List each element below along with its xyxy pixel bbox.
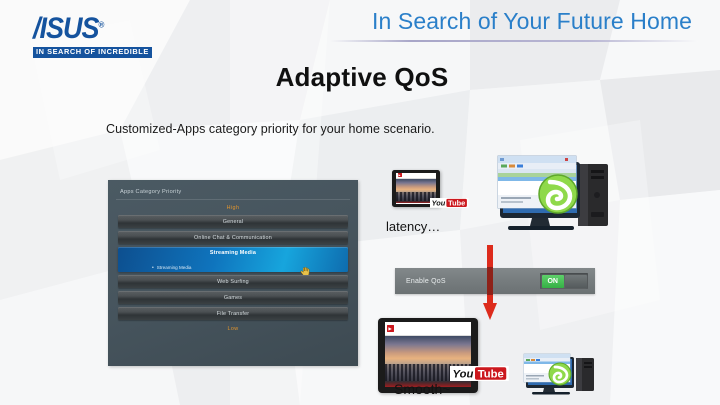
latency-label: latency… xyxy=(386,219,440,234)
asus-logo: /ISUS® IN SEARCH OF INCREDIBLE xyxy=(33,10,153,46)
youtube-logo-top: You Tube xyxy=(430,198,469,208)
apps-category-priority-panel: Apps Category Priority High General Onli… xyxy=(108,180,358,366)
youtube-favicon-icon: ▶ xyxy=(398,173,402,177)
smooth-label: Smooth~ xyxy=(394,381,450,397)
category-row-streaming-media[interactable]: Streaming Media Streaming Media xyxy=(118,247,348,272)
browser-toolbar: ▶ xyxy=(385,322,471,336)
asus-wordmark: /ISUS® xyxy=(33,10,153,43)
slide-root: /ISUS® IN SEARCH OF INCREDIBLE In Search… xyxy=(0,0,720,405)
enable-qos-label: Enable QoS xyxy=(406,278,446,285)
priority-low-label: Low xyxy=(116,323,350,336)
category-label: General xyxy=(223,219,244,225)
category-row-general[interactable]: General xyxy=(118,215,348,228)
header-divider xyxy=(330,40,698,42)
asus-tagline: IN SEARCH OF INCREDIBLE xyxy=(33,47,152,58)
category-label: Online Chat & Communication xyxy=(194,235,272,241)
category-row-file-transfer[interactable]: File Transfer xyxy=(118,307,348,320)
category-label: Games xyxy=(224,295,242,301)
header-title: In Search of Your Future Home xyxy=(372,8,692,35)
browser-toolbar: ▶ xyxy=(396,173,436,180)
youtube-logo-bottom: You Tube xyxy=(450,366,509,381)
flow-arrow-down-icon xyxy=(483,245,497,320)
desktop-bittorrent-large xyxy=(492,150,620,242)
category-label: File Transfer xyxy=(217,311,250,317)
priority-high-label: High xyxy=(116,202,350,215)
category-sub-item: Streaming Media xyxy=(118,265,192,270)
page-title: Adaptive QoS xyxy=(0,62,720,93)
category-label: Streaming Media xyxy=(118,250,348,256)
category-label: Web Surfing xyxy=(217,279,249,285)
youtube-favicon-icon: ▶ xyxy=(387,325,394,332)
toggle-state-label: ON xyxy=(542,275,564,288)
desktop-bittorrent-small xyxy=(520,350,600,400)
toggle-knob[interactable] xyxy=(565,275,587,288)
page-subtitle: Customized-Apps category priority for yo… xyxy=(106,122,435,136)
youtube-word-you: You xyxy=(432,199,447,207)
category-row-web-surfing[interactable]: Web Surfing xyxy=(118,275,348,288)
youtube-word-tube: Tube xyxy=(447,199,467,207)
youtube-word-you: You xyxy=(453,367,476,380)
category-row-online-chat[interactable]: Online Chat & Communication xyxy=(118,231,348,244)
category-row-games[interactable]: Games xyxy=(118,291,348,304)
enable-qos-toggle[interactable]: ON xyxy=(540,273,588,289)
panel-title: Apps Category Priority xyxy=(116,186,350,200)
youtube-word-tube: Tube xyxy=(475,367,506,380)
